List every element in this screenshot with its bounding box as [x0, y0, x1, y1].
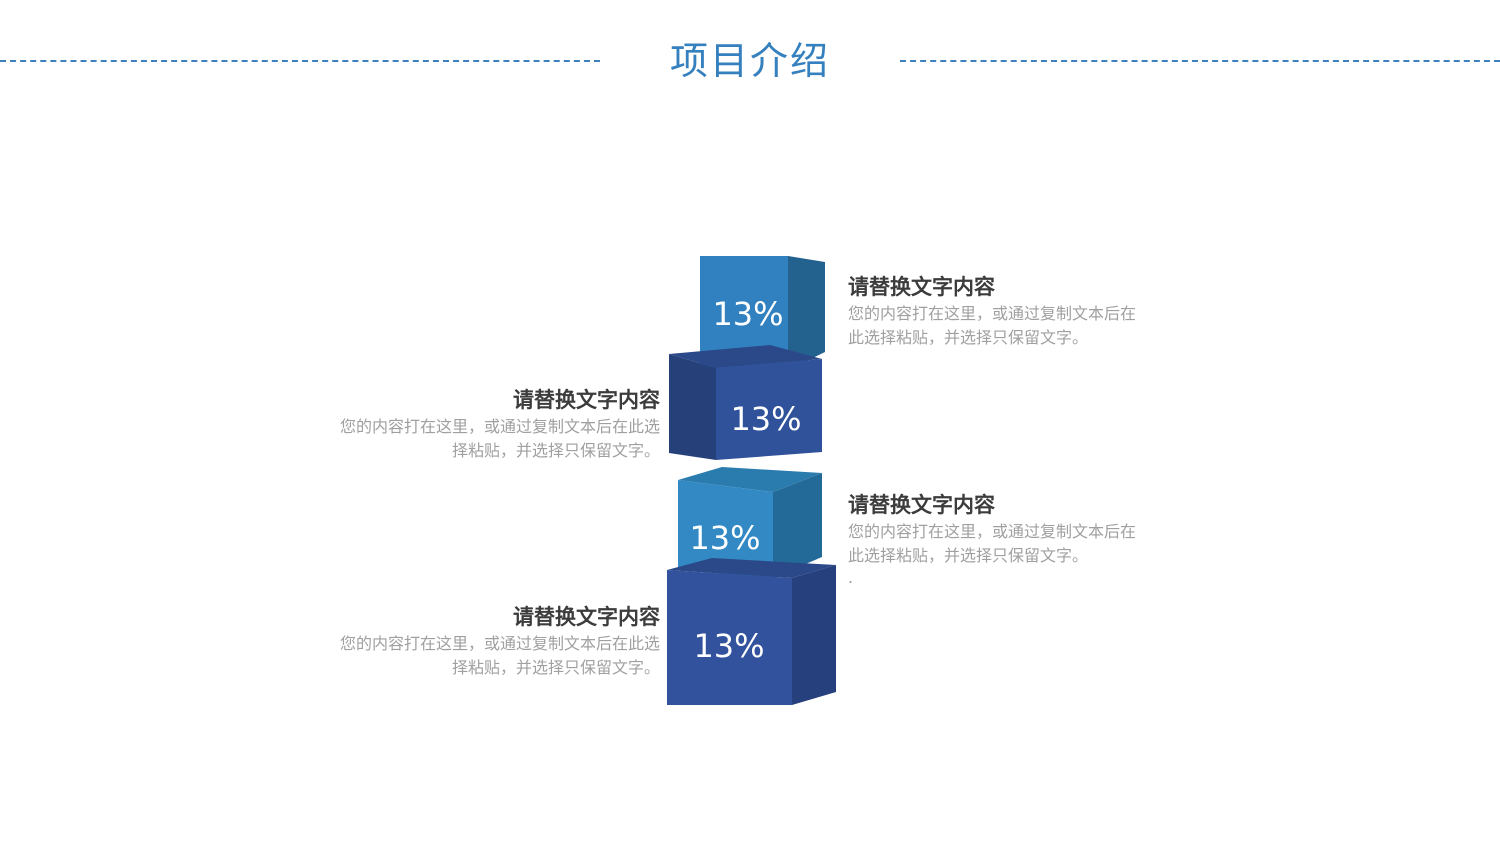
- callout-2: 请替换文字内容 您的内容打在这里，或通过复制文本后在此选择粘贴，并选择只保留文字…: [330, 385, 660, 463]
- cube-4-label: 13%: [693, 627, 764, 665]
- cube-stack-diagram: 13% 13% 13%: [0, 0, 1500, 844]
- cube-4: 13%: [667, 558, 836, 705]
- cube-2-top-face: [669, 345, 822, 368]
- cube-1: 13%: [700, 256, 825, 370]
- callout-2-body: 您的内容打在这里，或通过复制文本后在此选择粘贴，并选择只保留文字。: [330, 415, 660, 463]
- header-rule-left: [0, 60, 600, 62]
- cube-1-front-face: [700, 256, 788, 370]
- callout-1-heading: 请替换文字内容: [848, 272, 1148, 302]
- header-rule-right: [900, 60, 1500, 62]
- cube-2-side-face: [669, 354, 716, 460]
- callout-3-heading: 请替换文字内容: [848, 490, 1148, 520]
- callout-3-trailing-dot: .: [848, 568, 1148, 588]
- callout-4-heading: 请替换文字内容: [330, 602, 660, 632]
- cube-2-label: 13%: [730, 400, 801, 438]
- slide-header: 项目介绍: [0, 0, 1500, 120]
- callout-3-body: 您的内容打在这里，或通过复制文本后在此选择粘贴，并选择只保留文字。: [848, 520, 1148, 568]
- cube-3-front-face: [678, 480, 773, 578]
- callout-1: 请替换文字内容 您的内容打在这里，或通过复制文本后在此选择粘贴，并选择只保留文字…: [848, 272, 1148, 350]
- cube-4-front-face: [667, 570, 792, 705]
- cube-1-label: 13%: [712, 295, 783, 333]
- page-title: 项目介绍: [600, 34, 900, 88]
- cube-1-side-face: [788, 256, 825, 370]
- cube-4-top-face: [667, 558, 836, 578]
- cube-3-top-face: [678, 467, 822, 492]
- cube-3-label: 13%: [689, 519, 760, 557]
- callout-3: 请替换文字内容 您的内容打在这里，或通过复制文本后在此选择粘贴，并选择只保留文字…: [848, 490, 1148, 588]
- slide-canvas: 项目介绍 13% 13%: [0, 0, 1500, 844]
- callout-4-body: 您的内容打在这里，或通过复制文本后在此选择粘贴，并选择只保留文字。: [330, 632, 660, 680]
- cube-3: 13%: [678, 467, 822, 578]
- callout-4: 请替换文字内容 您的内容打在这里，或通过复制文本后在此选择粘贴，并选择只保留文字…: [330, 602, 660, 680]
- cube-3-side-face: [773, 473, 822, 578]
- cube-2: 13%: [669, 345, 822, 460]
- callout-2-heading: 请替换文字内容: [330, 385, 660, 415]
- cube-2-front-face: [716, 359, 822, 460]
- cube-4-side-face: [792, 565, 836, 705]
- callout-1-body: 您的内容打在这里，或通过复制文本后在此选择粘贴，并选择只保留文字。: [848, 302, 1148, 350]
